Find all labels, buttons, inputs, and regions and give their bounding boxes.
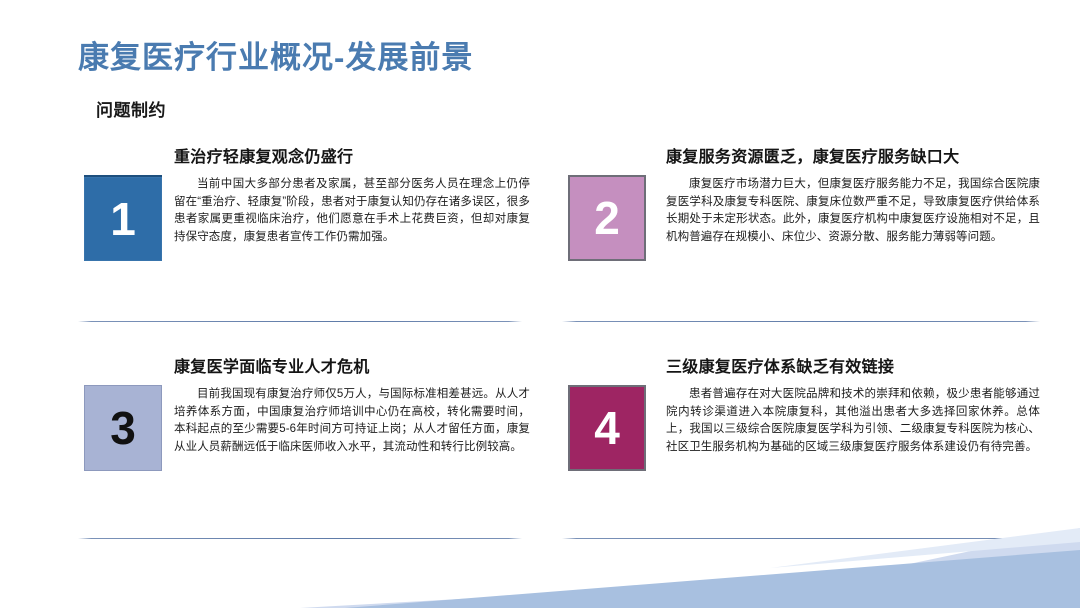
divider-middle-left [78,321,522,322]
card-number-badge-1: 1 [84,175,162,261]
section-subtitle: 问题制约 [96,96,166,121]
card-number-badge-2: 2 [568,175,646,261]
deco-band-pale [770,528,1080,568]
card-body-1: 重治疗轻康复观念仍盛行 当前中国大多部分患者及家属，甚至部分医务人员在理念上仍停… [174,143,530,246]
card-number-badge-4: 4 [568,385,646,471]
deco-band-light [300,528,1080,608]
card-number-badge-3: 3 [84,385,162,471]
slide-canvas: 康复医疗行业概况-发展前景 问题制约 1 重治疗轻康复观念仍盛行 当前中国大多部… [0,0,1080,608]
card-heading-4: 三级康复医疗体系缺乏有效链接 [666,353,1040,377]
card-text-4: 患者普遍存在对大医院品牌和技术的崇拜和依赖，极少患者能够通过院内转诊渠道进入本院… [666,386,1040,456]
card-text-3: 目前我国现有康复治疗师仅5万人，与国际标准相差甚远。从人才培养体系方面，中国康复… [174,386,530,456]
card-text-2: 康复医疗市场潜力巨大，但康复医疗服务能力不足，我国综合医院康复医学科及康复专科医… [666,176,1040,246]
card-text-1: 当前中国大多部分患者及家属，甚至部分医务人员在理念上仍停留在“重治疗、轻康复”阶… [174,176,530,246]
card-body-4: 三级康复医疗体系缺乏有效链接 患者普遍存在对大医院品牌和技术的崇拜和依赖，极少患… [666,353,1040,456]
decorative-diagonal-bands [0,528,1080,608]
card-heading-3: 康复医学面临专业人才危机 [174,353,530,377]
deco-band-dark [345,550,1080,608]
card-heading-1: 重治疗轻康复观念仍盛行 [174,143,530,167]
divider-bottom-right [562,538,1040,539]
card-body-2: 康复服务资源匮乏，康复医疗服务缺口大 康复医疗市场潜力巨大，但康复医疗服务能力不… [666,143,1040,246]
card-heading-2: 康复服务资源匮乏，康复医疗服务缺口大 [666,143,1040,167]
page-title: 康复医疗行业概况-发展前景 [78,32,473,77]
divider-bottom-left [78,538,522,539]
divider-middle-right [562,321,1040,322]
card-body-3: 康复医学面临专业人才危机 目前我国现有康复治疗师仅5万人，与国际标准相差甚远。从… [174,353,530,456]
